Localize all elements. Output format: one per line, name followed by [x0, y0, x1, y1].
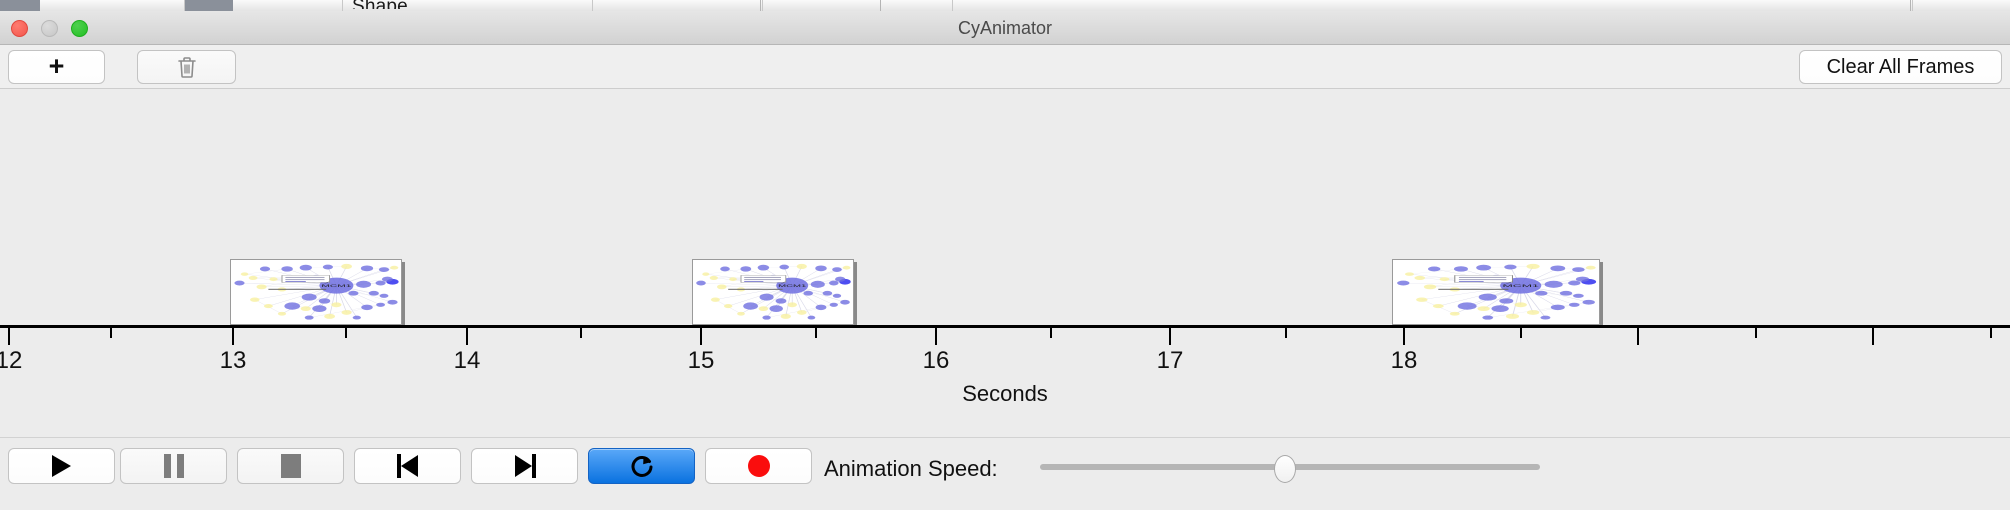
record-button[interactable]	[705, 448, 812, 484]
loop-button[interactable]	[588, 448, 695, 484]
tick-label: 17	[1157, 347, 1184, 375]
tick-major	[935, 328, 937, 345]
network-graph: MCM1	[231, 260, 401, 324]
cyanimator-window: Shape CyAnimator + Clear All Frames MCM1…	[0, 0, 2010, 510]
skip-forward-icon	[513, 454, 537, 478]
trash-icon	[177, 56, 197, 79]
keyframe-thumbnail[interactable]: MCM1	[230, 259, 402, 325]
title-bar: CyAnimator	[0, 11, 2010, 45]
thumbnail-canvas: MCM1	[693, 260, 853, 324]
clear-all-frames-label: Clear All Frames	[1827, 56, 1975, 79]
network-graph: MCM1	[1393, 260, 1599, 324]
delete-frame-button[interactable]	[137, 50, 236, 84]
stop-icon	[281, 454, 301, 478]
hub-node-label: MCM1	[321, 283, 351, 287]
tick-major	[1637, 328, 1639, 345]
record-icon	[748, 455, 770, 477]
tick-minor	[1755, 328, 1757, 338]
thumbnail-canvas: MCM1	[1393, 260, 1599, 324]
pause-button[interactable]	[120, 448, 227, 484]
tick-minor	[1520, 328, 1522, 338]
skip-to-start-button[interactable]	[354, 448, 461, 484]
axis-title-seconds: Seconds	[0, 381, 2010, 407]
timeline-panel[interactable]: MCM1MCM1MCM1 12131415161718 Seconds	[0, 89, 2010, 414]
loop-icon	[629, 453, 655, 479]
background-shape-label: Shape	[352, 0, 408, 9]
network-graph: MCM1	[693, 260, 853, 324]
tick-label: 13	[220, 347, 247, 375]
skip-to-end-button[interactable]	[471, 448, 578, 484]
tick-major	[1169, 328, 1171, 345]
pause-icon	[164, 454, 184, 478]
tick-minor	[580, 328, 582, 338]
keyframe-thumbnail[interactable]: MCM1	[1392, 259, 1600, 325]
tick-major	[466, 328, 468, 345]
tick-minor	[1990, 328, 1992, 338]
tick-minor	[1050, 328, 1052, 338]
tick-major	[232, 328, 234, 345]
tick-minor	[815, 328, 817, 338]
tick-minor	[345, 328, 347, 338]
plus-icon: +	[49, 53, 65, 80]
hub-node-label: MCM1	[1503, 284, 1539, 288]
play-button[interactable]	[8, 448, 115, 484]
tick-major	[1872, 328, 1874, 345]
skip-back-icon	[396, 454, 420, 478]
window-title: CyAnimator	[0, 18, 2010, 39]
animation-speed-slider-thumb[interactable]	[1274, 455, 1296, 483]
stop-button[interactable]	[237, 448, 344, 484]
play-icon	[52, 455, 71, 477]
tick-label: 12	[0, 347, 22, 375]
keyframe-thumbnail[interactable]: MCM1	[692, 259, 854, 325]
tick-minor	[110, 328, 112, 338]
tick-label: 15	[688, 347, 715, 375]
tick-label: 14	[454, 347, 481, 375]
tick-label: 16	[923, 347, 950, 375]
frame-toolbar: + Clear All Frames	[0, 45, 2010, 89]
keyframe-thumbnails: MCM1MCM1MCM1	[0, 89, 2010, 325]
tick-minor	[1285, 328, 1287, 338]
tick-major	[1403, 328, 1405, 345]
tick-major	[8, 328, 10, 345]
hub-node-label: MCM1	[778, 283, 806, 288]
clear-all-frames-button[interactable]: Clear All Frames	[1799, 50, 2002, 84]
animation-speed-label: Animation Speed:	[824, 456, 998, 482]
add-frame-button[interactable]: +	[8, 50, 105, 84]
playback-controls-bar: Animation Speed:	[0, 437, 2010, 510]
tick-major	[700, 328, 702, 345]
timeline-axis	[0, 325, 2010, 328]
tick-label: 18	[1391, 347, 1418, 375]
thumbnail-canvas: MCM1	[231, 260, 401, 324]
